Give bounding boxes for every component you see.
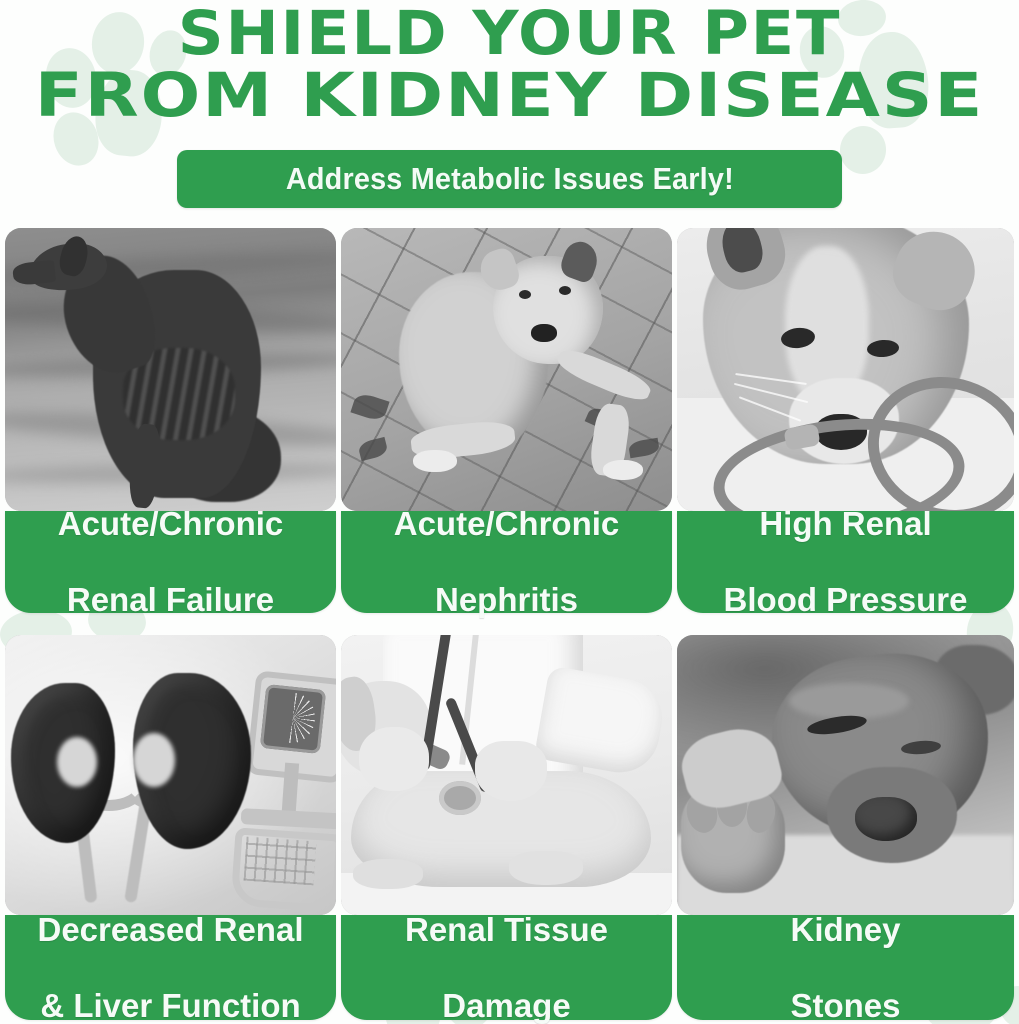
condition-card-acute-chronic-renal-failure[interactable]: Acute/Chronic Renal Failure <box>5 228 336 613</box>
card-label-line-1: High Renal <box>718 505 974 543</box>
card-label-text: Decreased Renal & Liver Function <box>26 911 316 1024</box>
card-label-panel: Kidney Stones <box>677 915 1014 1020</box>
card-photo-sleepy-dog <box>677 635 1014 915</box>
card-photo-kidneys-and-monitor <box>5 635 336 915</box>
card-label-line-2: Renal Failure <box>52 581 290 619</box>
page-title-line-1: SHIELD YOUR PET <box>0 3 1019 66</box>
card-photo-shiba-with-stethoscope <box>677 228 1014 511</box>
card-label-line-2: Blood Pressure <box>718 581 974 619</box>
card-label-line-2: Damage <box>399 987 614 1024</box>
card-label-text: Kidney Stones <box>778 911 912 1024</box>
card-label-text: Acute/Chronic Nephritis <box>382 505 632 619</box>
poster-canvas: SHIELD YOUR PET FROM KIDNEY DISEASE Addr… <box>0 0 1019 1024</box>
card-photo-emaciated-dog <box>5 228 336 511</box>
condition-card-decreased-renal-liver-function[interactable]: Decreased Renal & Liver Function <box>5 635 336 1020</box>
card-label-line-1: Acute/Chronic <box>52 505 290 543</box>
card-label-text: Renal Tissue Damage <box>393 911 620 1024</box>
card-label-line-2: Nephritis <box>388 581 626 619</box>
condition-card-kidney-stones[interactable]: Kidney Stones <box>677 635 1014 1020</box>
card-label-line-2: & Liver Function <box>32 987 310 1024</box>
card-label-panel: Decreased Renal & Liver Function <box>5 915 336 1020</box>
card-label-panel: High Renal Blood Pressure <box>677 511 1014 613</box>
card-label-panel: Renal Tissue Damage <box>341 915 672 1020</box>
card-photo-vet-examining-dog <box>341 635 672 915</box>
condition-card-high-renal-blood-pressure[interactable]: High Renal Blood Pressure <box>677 228 1014 613</box>
card-label-line-2: Stones <box>784 987 906 1024</box>
condition-card-renal-tissue-damage[interactable]: Renal Tissue Damage <box>341 635 672 1020</box>
card-label-line-1: Renal Tissue <box>399 911 614 949</box>
card-label-line-1: Decreased Renal <box>32 911 310 949</box>
card-label-line-1: Kidney <box>784 911 906 949</box>
condition-card-grid: Acute/Chronic Renal Failure <box>0 215 1019 1024</box>
page-title-line-2: FROM KIDNEY DISEASE <box>0 65 1019 128</box>
card-label-panel: Acute/Chronic Nephritis <box>341 511 672 613</box>
subtitle-banner: Address Metabolic Issues Early! <box>177 150 842 208</box>
card-label-text: High Renal Blood Pressure <box>712 505 980 619</box>
condition-card-acute-chronic-nephritis[interactable]: Acute/Chronic Nephritis <box>341 228 672 613</box>
subtitle-text: Address Metabolic Issues Early! <box>285 161 733 197</box>
poster-header: SHIELD YOUR PET FROM KIDNEY DISEASE Addr… <box>0 0 1019 215</box>
card-photo-dog-scratching <box>341 228 672 511</box>
card-label-panel: Acute/Chronic Renal Failure <box>5 511 336 613</box>
card-label-line-1: Acute/Chronic <box>388 505 626 543</box>
card-label-text: Acute/Chronic Renal Failure <box>46 505 296 619</box>
